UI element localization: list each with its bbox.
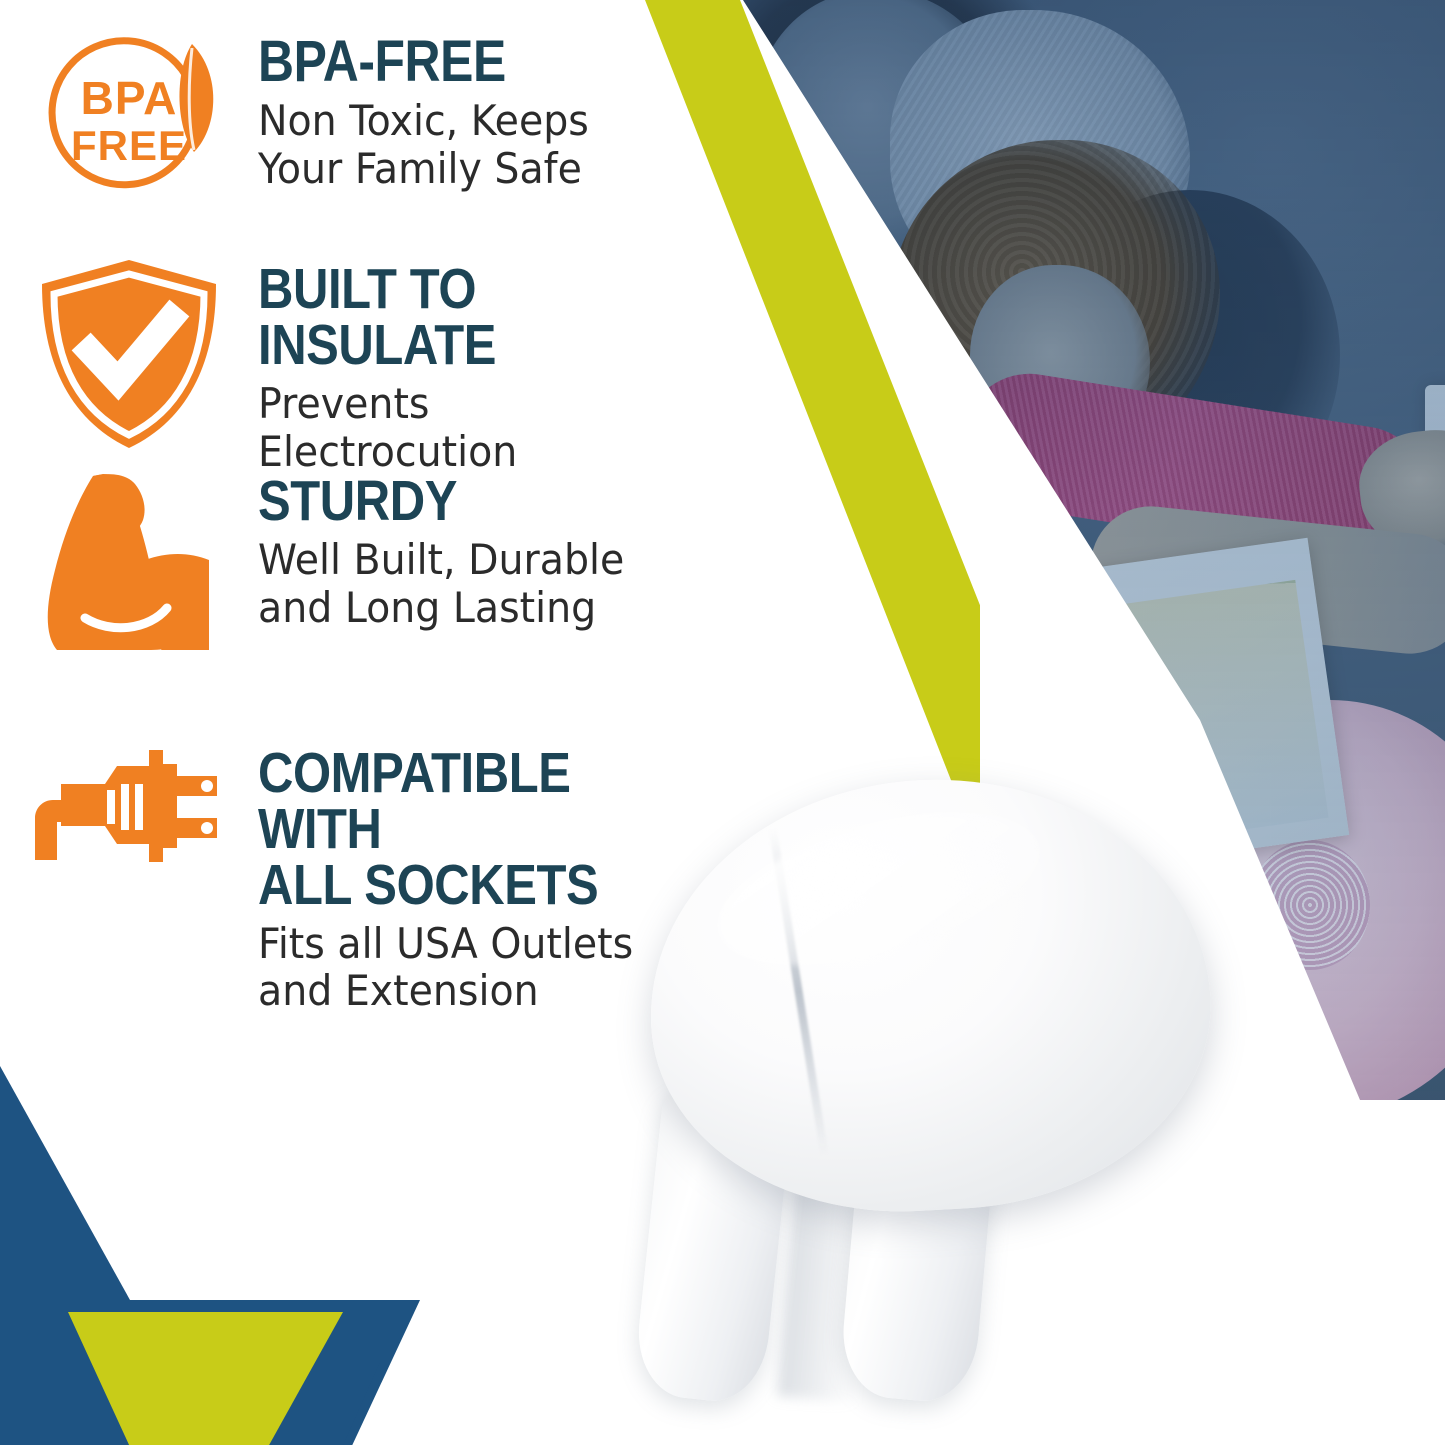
photo-book-illustration-accent (1146, 700, 1200, 764)
electrical-plug-icon-glyph (31, 740, 227, 870)
feature-item-bpa-free: BPA FREE BPA-FREE Non Toxic, Keeps Your … (24, 28, 724, 214)
feature-subtext: Well Built, Durable and Long Lasting (258, 536, 624, 632)
feature-text-built-to-insulate: BUILT TO INSULATE Prevents Electrocution (258, 256, 724, 475)
feature-heading: BUILT TO INSULATE (258, 262, 659, 374)
feature-item-sturdy: STURDY Well Built, Durable and Long Last… (24, 468, 724, 658)
bpa-badge-line2: FREE (71, 125, 187, 167)
feature-subtext: Prevents Electrocution (258, 380, 696, 476)
shield-check-icon-glyph (38, 256, 220, 452)
feature-item-compatible-sockets: COMPATIBLE WITH ALL SOCKETS Fits all USA… (24, 740, 724, 1015)
feature-list: BPA FREE BPA-FREE Non Toxic, Keeps Your … (0, 0, 760, 1030)
feature-text-bpa-free: BPA-FREE Non Toxic, Keeps Your Family Sa… (258, 28, 610, 193)
shield-check-icon (24, 256, 234, 452)
feature-subtext: Fits all USA Outlets and Extension (258, 920, 696, 1016)
feature-subtext: Non Toxic, Keeps Your Family Safe (258, 97, 589, 193)
bpa-free-badge-icon: BPA FREE (24, 28, 234, 214)
infographic-canvas: BPA FREE BPA-FREE Non Toxic, Keeps Your … (0, 0, 1445, 1445)
feature-item-built-to-insulate: BUILT TO INSULATE Prevents Electrocution (24, 256, 724, 475)
feature-heading: BPA-FREE (258, 34, 561, 91)
feature-heading: COMPATIBLE WITH ALL SOCKETS (258, 746, 659, 914)
electrical-plug-icon (24, 740, 234, 870)
feature-heading: STURDY (258, 474, 593, 530)
feature-text-sturdy: STURDY Well Built, Durable and Long Last… (258, 468, 648, 632)
flexed-bicep-icon-glyph (31, 468, 227, 658)
flexed-bicep-icon (24, 468, 234, 658)
feature-text-compatible-sockets: COMPATIBLE WITH ALL SOCKETS Fits all USA… (258, 740, 724, 1015)
bpa-free-badge-text: BPA FREE (36, 28, 222, 214)
bpa-badge-line1: BPA (81, 75, 178, 121)
